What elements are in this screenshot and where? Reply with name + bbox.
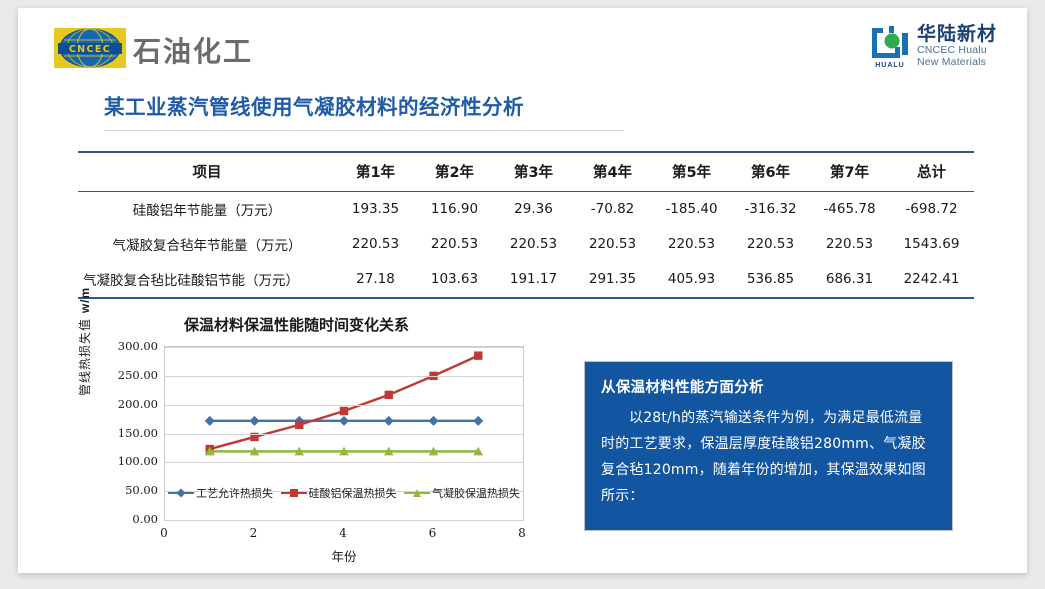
data-point-marker xyxy=(474,351,482,359)
cell: 536.85 xyxy=(731,262,810,298)
col-header-year1: 第1年 xyxy=(336,152,415,192)
chart-y-axis-label: 管线热损失值 w/m xyxy=(76,266,93,396)
cell: 27.18 xyxy=(336,262,415,298)
y-tick-label: 0.00 xyxy=(132,512,158,526)
title-divider xyxy=(104,130,624,131)
grid-line xyxy=(165,434,523,435)
legend-label: 硅酸铝保温热损失 xyxy=(309,485,397,501)
cell: 405.93 xyxy=(652,262,731,298)
data-point-marker xyxy=(385,391,393,399)
table-body: 硅酸铝年节能量（万元） 193.35 116.90 29.36 -70.82 -… xyxy=(78,192,974,299)
slide-page: CNCEC 石油化工 HUALU 华陆新材 CNCEC Hualu xyxy=(18,8,1027,573)
y-axis-label-cn: 管线热损失值 xyxy=(78,318,92,396)
cell: 220.53 xyxy=(494,227,573,262)
cell: 1543.69 xyxy=(889,227,974,262)
cell: 686.31 xyxy=(810,262,889,298)
hualu-chinese-name: 华陆新材 xyxy=(917,25,997,45)
legend-label: 工艺允许热损失 xyxy=(196,485,273,501)
row-label: 气凝胶复合毡年节能量（万元） xyxy=(78,227,336,262)
legend-key-icon xyxy=(281,488,307,498)
col-header-year7: 第7年 xyxy=(810,152,889,192)
chart-title: 保温材料保温性能随时间变化关系 xyxy=(184,314,409,335)
chart-y-axis-ticks: 0.0050.00100.00150.00200.00250.00300.00 xyxy=(102,346,158,521)
col-header-item: 项目 xyxy=(78,152,336,192)
cell: 29.36 xyxy=(494,192,573,228)
slide-header: CNCEC 石油化工 HUALU 华陆新材 CNCEC Hualu xyxy=(18,8,1027,78)
cell: 220.53 xyxy=(810,227,889,262)
y-tick-label: 150.00 xyxy=(118,426,158,440)
cell: -185.40 xyxy=(652,192,731,228)
legend-key-icon xyxy=(404,488,430,498)
grid-line xyxy=(165,462,523,463)
row-label: 气凝胶复合毡比硅酸铝节能（万元） xyxy=(78,262,336,298)
table-row: 气凝胶复合毡比硅酸铝节能（万元） 27.18 103.63 191.17 291… xyxy=(78,262,974,298)
col-header-year3: 第3年 xyxy=(494,152,573,192)
cell: 220.53 xyxy=(731,227,810,262)
cell: 220.53 xyxy=(415,227,494,262)
page-title: 某工业蒸汽管线使用气凝胶材料的经济性分析 xyxy=(104,90,624,120)
cell: -316.32 xyxy=(731,192,810,228)
y-axis-label-unit: w/m xyxy=(78,287,92,313)
grid-line xyxy=(165,405,523,406)
col-header-year2: 第2年 xyxy=(415,152,494,192)
line-chart: 管线热损失值 w/m 0.0050.00100.00150.00200.0025… xyxy=(80,346,550,556)
table-row: 气凝胶复合毡年节能量（万元） 220.53 220.53 220.53 220.… xyxy=(78,227,974,262)
y-tick-label: 50.00 xyxy=(125,483,158,497)
economics-table-wrap: 项目 第1年 第2年 第3年 第4年 第5年 第6年 第7年 总计 硅酸铝年节能… xyxy=(78,151,973,299)
y-tick-label: 250.00 xyxy=(118,368,158,382)
series-line xyxy=(210,356,479,449)
data-point-marker xyxy=(473,416,483,426)
cncec-globe-logo-icon: CNCEC xyxy=(54,28,126,68)
legend-item[interactable]: 气凝胶保温热损失 xyxy=(404,485,520,501)
cell: -698.72 xyxy=(889,192,974,228)
x-tick-label: 8 xyxy=(518,526,526,540)
x-tick-label: 0 xyxy=(160,526,168,540)
economics-table: 项目 第1年 第2年 第3年 第4年 第5年 第6年 第7年 总计 硅酸铝年节能… xyxy=(78,151,974,299)
hualu-logo: HUALU 华陆新材 CNCEC Hualu New Materials xyxy=(869,24,997,70)
hualu-english-line2: New Materials xyxy=(917,57,997,69)
legend-key-icon xyxy=(168,488,194,498)
legend-item[interactable]: 硅酸铝保温热损失 xyxy=(281,485,397,501)
legend-item[interactable]: 工艺允许热损失 xyxy=(168,485,273,501)
svg-text:CNCEC: CNCEC xyxy=(69,44,111,55)
cell: 2242.41 xyxy=(889,262,974,298)
y-tick-label: 200.00 xyxy=(118,397,158,411)
hualu-mark-icon: HUALU xyxy=(869,25,911,69)
table-row: 硅酸铝年节能量（万元） 193.35 116.90 29.36 -70.82 -… xyxy=(78,192,974,228)
table-header-row: 项目 第1年 第2年 第3年 第4年 第5年 第6年 第7年 总计 xyxy=(78,152,974,192)
data-point-marker xyxy=(339,416,349,426)
y-tick-label: 100.00 xyxy=(118,454,158,468)
data-point-marker xyxy=(429,416,439,426)
cell: 220.53 xyxy=(652,227,731,262)
slide-root: CNCEC 石油化工 HUALU 华陆新材 CNCEC Hualu xyxy=(0,0,1045,589)
callout-heading: 从保温材料性能方面分析 xyxy=(601,376,936,397)
row-label: 硅酸铝年节能量（万元） xyxy=(78,192,336,228)
col-header-year6: 第6年 xyxy=(731,152,810,192)
cell: 103.63 xyxy=(415,262,494,298)
cell: 193.35 xyxy=(336,192,415,228)
legend-label: 气凝胶保温热损失 xyxy=(432,485,520,501)
cell: 220.53 xyxy=(336,227,415,262)
cell: -70.82 xyxy=(573,192,652,228)
cell: 220.53 xyxy=(573,227,652,262)
hualu-wordmark: HUALU xyxy=(869,62,911,69)
x-tick-label: 2 xyxy=(250,526,258,540)
col-header-year4: 第4年 xyxy=(573,152,652,192)
analysis-callout: 从保温材料性能方面分析 以28t/h的蒸汽输送条件为例，为满足最低流量时的工艺要… xyxy=(584,361,953,531)
grid-line xyxy=(165,376,523,377)
col-header-year5: 第5年 xyxy=(652,152,731,192)
grid-line xyxy=(165,520,523,521)
data-point-marker xyxy=(340,407,348,415)
data-point-marker xyxy=(295,421,303,429)
data-point-marker xyxy=(250,416,260,426)
data-point-marker xyxy=(205,416,215,426)
x-tick-label: 6 xyxy=(429,526,437,540)
callout-body: 以28t/h的蒸汽输送条件为例，为满足最低流量时的工艺要求，保温层厚度硅酸铝28… xyxy=(601,406,936,510)
y-tick-label: 300.00 xyxy=(118,339,158,353)
x-tick-label: 4 xyxy=(339,526,347,540)
data-point-marker xyxy=(384,416,394,426)
cell: -465.78 xyxy=(810,192,889,228)
cell: 291.35 xyxy=(573,262,652,298)
table-head: 项目 第1年 第2年 第3年 第4年 第5年 第6年 第7年 总计 xyxy=(78,152,974,192)
cncec-company-title: 石油化工 xyxy=(133,30,253,70)
page-title-block: 某工业蒸汽管线使用气凝胶材料的经济性分析 xyxy=(104,90,624,131)
grid-line xyxy=(165,347,523,348)
cell: 191.17 xyxy=(494,262,573,298)
col-header-total: 总计 xyxy=(889,152,974,192)
cell: 116.90 xyxy=(415,192,494,228)
row-label-text: 气凝胶复合毡比硅酸铝节能（万元） xyxy=(83,269,299,289)
chart-x-axis-label: 年份 xyxy=(164,546,524,565)
chart-legend: 工艺允许热损失硅酸铝保温热损失气凝胶保温热损失 xyxy=(168,485,520,501)
